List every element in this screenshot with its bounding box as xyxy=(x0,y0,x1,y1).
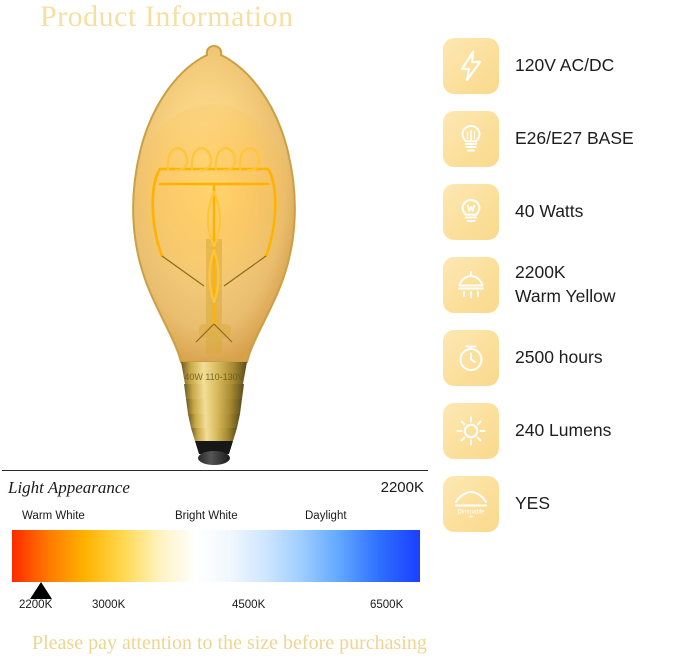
lightning-bolt-icon xyxy=(443,38,499,94)
spec-row-voltage: 120V AC/DC xyxy=(443,38,679,111)
spec-text-lifetime: 2500 hours xyxy=(515,330,603,386)
spec-text-base: E26/E27 BASE xyxy=(515,111,634,167)
band-label-bright-white: Bright White xyxy=(175,510,238,522)
spec-line1-lumens: 240 Lumens xyxy=(515,419,611,443)
color-temperature-marker xyxy=(30,582,52,599)
dimmable-icon: Dimmable + xyxy=(443,476,499,532)
spec-row-base: E26/E27 BASE xyxy=(443,111,679,184)
band-label-warm-white: Warm White xyxy=(22,510,85,522)
temperature-tick-labels: 2200K 3000K 4500K 6500K xyxy=(0,599,430,615)
bulb-base-icon xyxy=(443,111,499,167)
spec-text-color-temperature: 2200K Warm Yellow xyxy=(515,257,616,313)
svg-text:+: + xyxy=(469,512,474,520)
spec-row-dimmable: Dimmable + YES xyxy=(443,476,679,549)
spec-row-watts: 40 Watts xyxy=(443,184,679,257)
spec-line1-base: E26/E27 BASE xyxy=(515,127,634,151)
color-temperature-gradient-bar xyxy=(12,530,420,582)
band-labels: Warm White Bright White Daylight xyxy=(0,510,430,526)
sun-brightness-icon xyxy=(443,403,499,459)
footer-note: Please pay attention to the size before … xyxy=(32,632,427,655)
spec-line1-lifetime: 2500 hours xyxy=(515,346,603,370)
light-appearance-value: 2200K xyxy=(381,479,424,496)
spec-line1-voltage: 120V AC/DC xyxy=(515,54,614,78)
band-label-daylight: Daylight xyxy=(305,510,347,522)
panel-divider xyxy=(2,470,428,471)
product-information-page: Product Information xyxy=(0,0,679,662)
spec-text-watts: 40 Watts xyxy=(515,184,583,240)
tick-2200k: 2200K xyxy=(19,599,52,611)
spec-line1-color-temperature: 2200K xyxy=(515,261,616,285)
tick-4500k: 4500K xyxy=(232,599,265,611)
spec-line1-watts: 40 Watts xyxy=(515,200,583,224)
bulb-image: 40W 110-130V xyxy=(0,24,430,474)
tick-6500k: 6500K xyxy=(370,599,403,611)
spec-row-lifetime: 2500 hours xyxy=(443,330,679,403)
light-appearance-panel: Light Appearance 2200K Warm White Bright… xyxy=(0,470,430,625)
bulb-illustration: 40W 110-130V xyxy=(0,24,430,474)
spec-line1-dimmable: YES xyxy=(515,492,550,516)
spec-text-voltage: 120V AC/DC xyxy=(515,38,614,94)
watt-bulb-icon xyxy=(443,184,499,240)
specifications-list: 120V AC/DC E26/E27 BASE xyxy=(443,38,679,549)
clock-icon xyxy=(443,330,499,386)
spec-row-color-temperature: 2200K Warm Yellow xyxy=(443,257,679,330)
light-appearance-label: Light Appearance xyxy=(8,478,130,498)
svg-text:40W 110-130V: 40W 110-130V xyxy=(184,372,243,382)
spec-row-lumens: 240 Lumens xyxy=(443,403,679,476)
spec-text-dimmable: YES xyxy=(515,476,550,532)
color-temperature-icon xyxy=(443,257,499,313)
tick-3000k: 3000K xyxy=(92,599,125,611)
spec-line2-color-temperature: Warm Yellow xyxy=(515,285,616,309)
spec-text-lumens: 240 Lumens xyxy=(515,403,611,459)
